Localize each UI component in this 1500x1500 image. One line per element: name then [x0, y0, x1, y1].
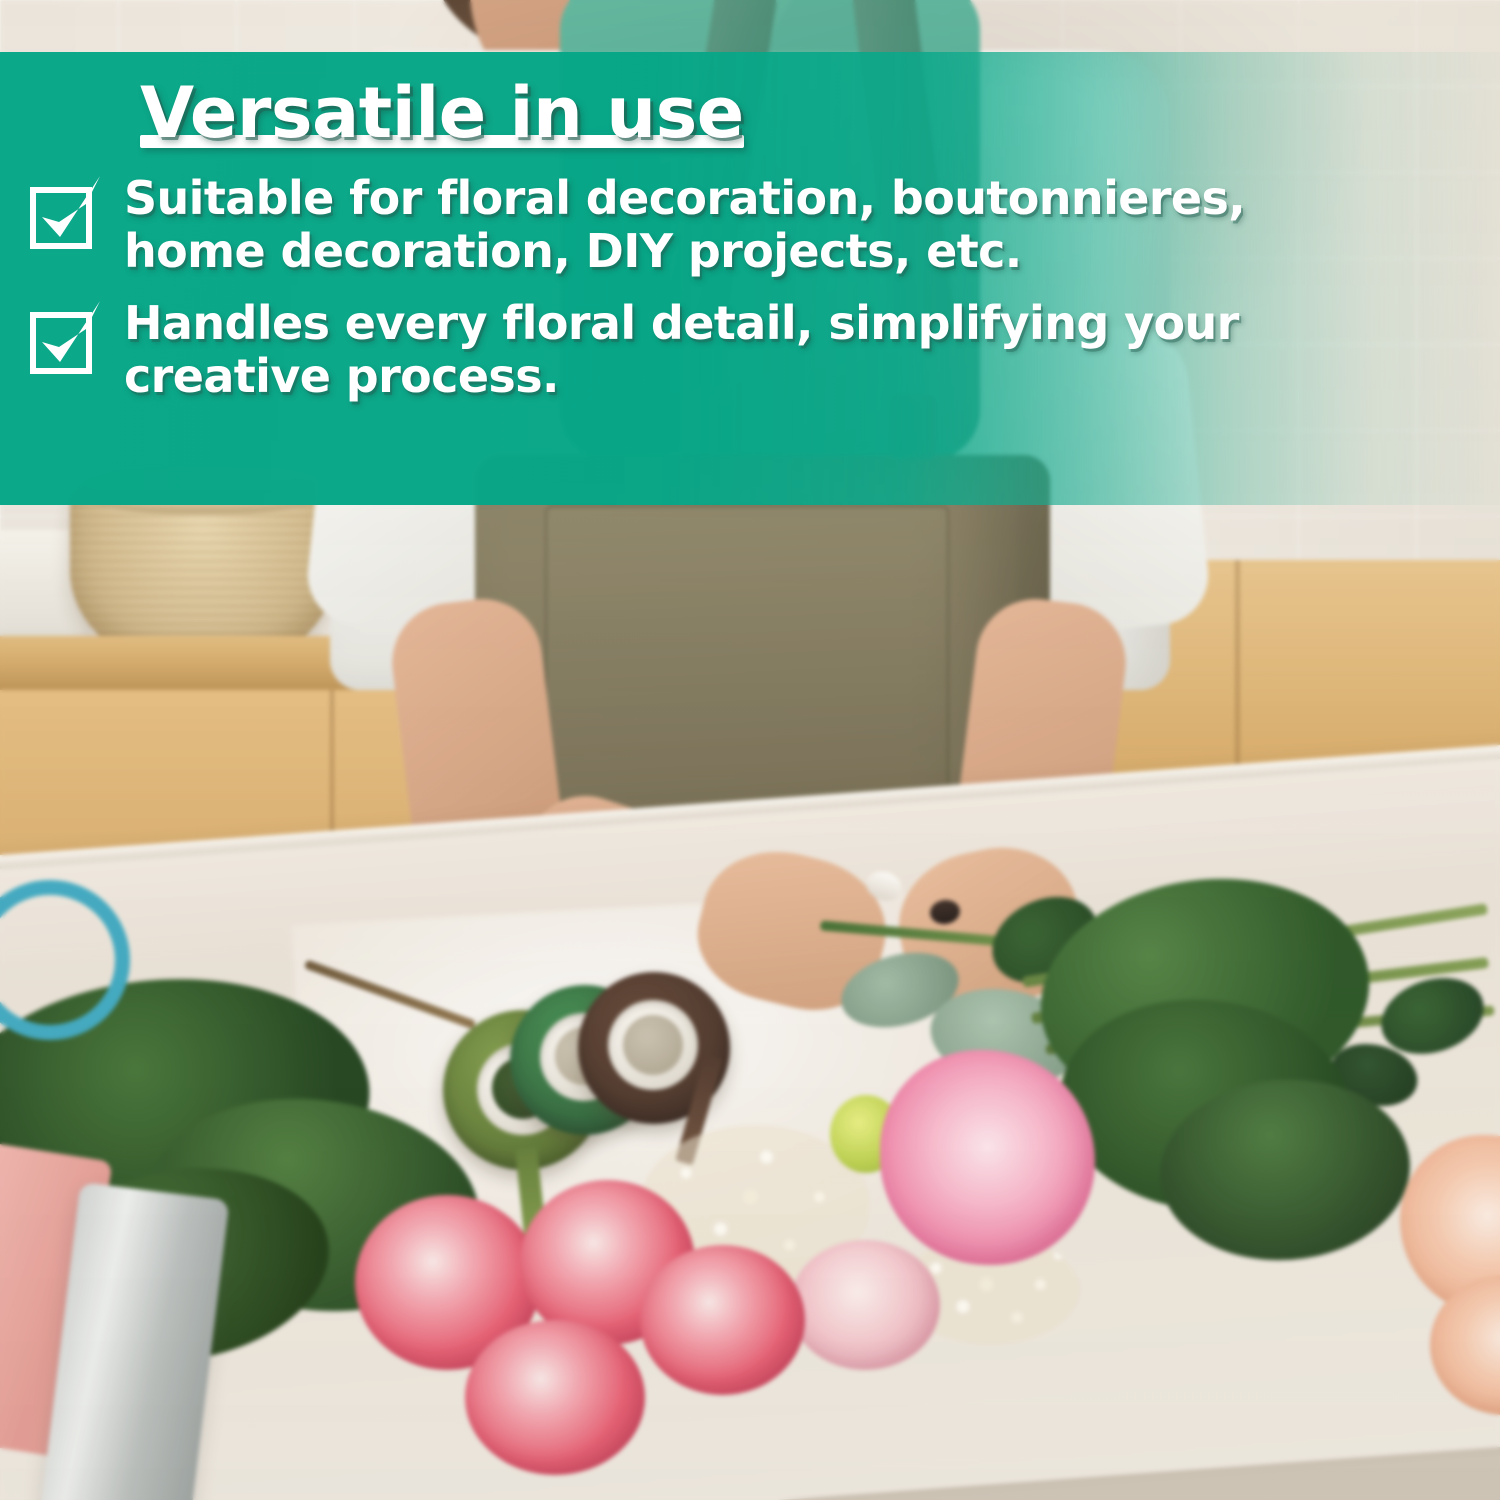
feature-banner: Versatile in use Suitable for floral dec…	[0, 52, 1500, 505]
tape-roll-hole	[623, 1015, 683, 1075]
feature-text: Suitable for floral decoration, boutonni…	[124, 172, 1354, 279]
pale-pink-rose	[790, 1240, 940, 1370]
feature-list: Suitable for floral decoration, boutonni…	[22, 172, 1460, 403]
coral-garden-rose	[465, 1320, 645, 1475]
page-title: Versatile in use	[140, 78, 744, 148]
coral-garden-rose	[640, 1245, 805, 1395]
pink-carnation	[880, 1050, 1095, 1265]
headline-group: Versatile in use	[140, 78, 744, 148]
list-item: Handles every floral detail, simplifying…	[22, 297, 1460, 404]
product-marketing-image: Versatile in use Suitable for floral dec…	[0, 0, 1500, 1500]
list-item: Suitable for floral decoration, boutonni…	[22, 172, 1460, 279]
checkbox-checked-icon	[28, 299, 106, 377]
feature-text: Handles every floral detail, simplifying…	[124, 297, 1354, 404]
checkbox-checked-icon	[28, 174, 106, 252]
